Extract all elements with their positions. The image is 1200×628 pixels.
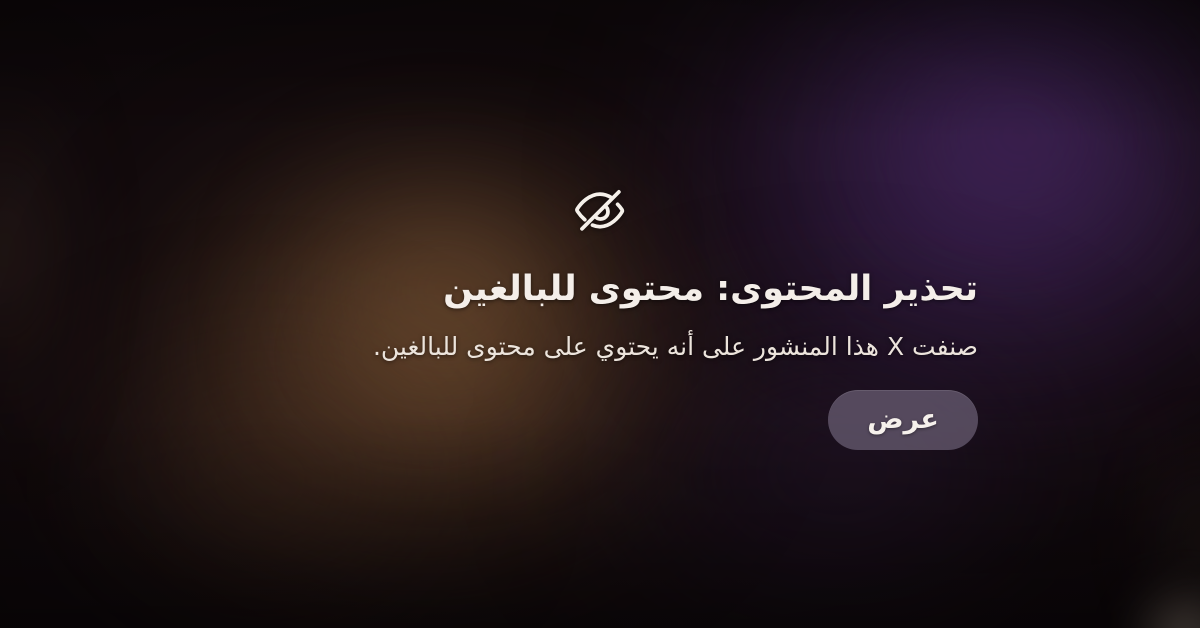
- content-warning-card: تحذير المحتوى: محتوى للبالغين صنفت X هذا…: [222, 182, 978, 450]
- content-warning-description: صنفت X هذا المنشور على أنه يحتوي على محت…: [222, 330, 978, 365]
- content-warning-overlay: تحذير المحتوى: محتوى للبالغين صنفت X هذا…: [0, 0, 1200, 628]
- content-warning-title: تحذير المحتوى: محتوى للبالغين: [222, 268, 978, 312]
- view-content-button[interactable]: عرض: [828, 390, 978, 450]
- content-warning-screen: تحذير المحتوى: محتوى للبالغين صنفت X هذا…: [0, 0, 1200, 628]
- warning-icon-row: [222, 182, 978, 240]
- eye-off-icon: [571, 182, 629, 240]
- content-warning-actions: عرض: [222, 390, 978, 450]
